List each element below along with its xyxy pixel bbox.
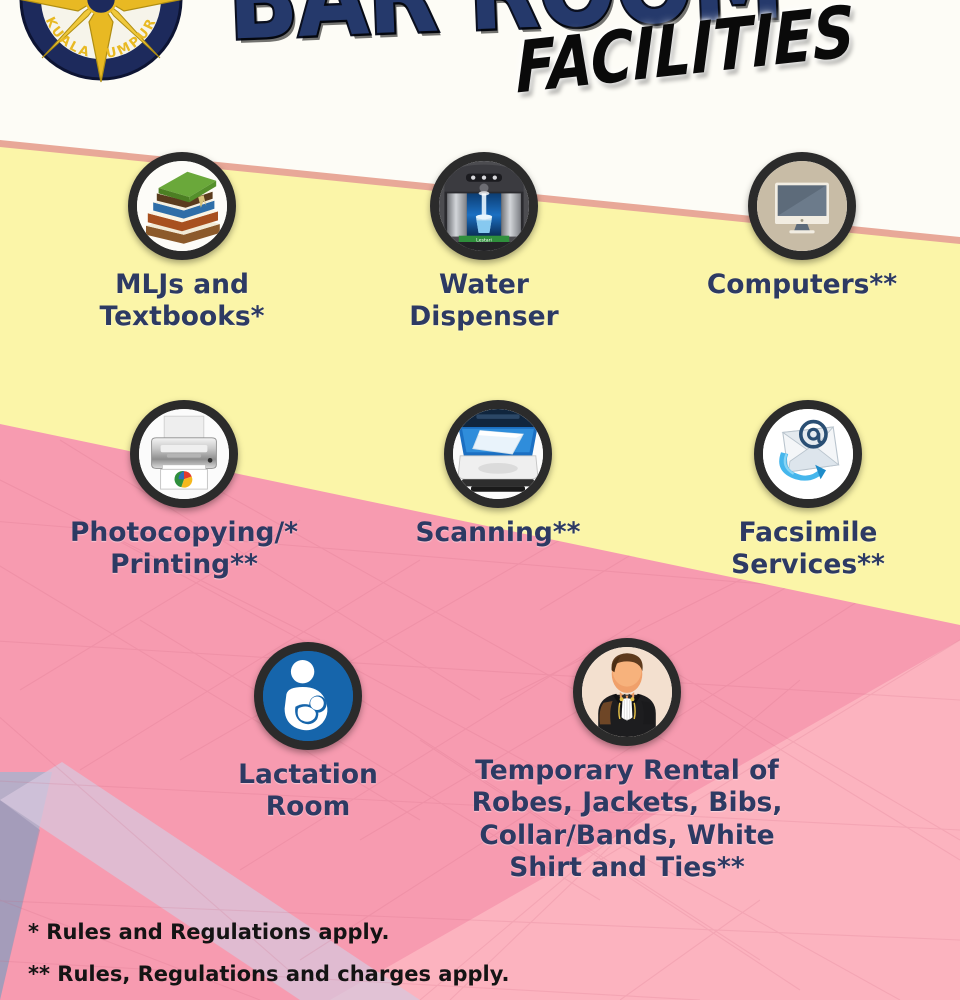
email-envelope-icon [763,409,853,499]
scanner-icon [453,409,543,499]
facility-photocopying-printing: Photocopying/* Printing** [39,400,329,582]
facility-label: MLJs and Textbooks* [62,269,302,334]
printer-icon [139,409,229,499]
facility-icon-ring: Lestari [430,152,538,260]
facility-water-dispenser: Lestari Water Dispenser [364,152,604,334]
poster-canvas: JUSTICE THROUGH LAW KUALA LUMPUR BAR ROO… [0,0,960,1000]
facility-label: Temporary Rental of Robes, Jackets, Bibs… [462,755,792,884]
footnote-double-asterisk: ** Rules, Regulations and charges apply. [28,962,509,986]
facility-icon-ring [754,400,862,508]
books-icon [137,161,227,251]
facility-label: Facsimile Services** [688,517,928,582]
bar-council-logo: JUSTICE THROUGH LAW KUALA LUMPUR [16,0,186,84]
facility-scanning: Scanning** [373,400,623,549]
lawyer-robes-icon [582,647,672,737]
facility-icon-ring [130,400,238,508]
footnotes-block: * Rules and Regulations apply. ** Rules,… [28,920,509,986]
water-dispenser-icon: Lestari [439,161,529,251]
facility-label: Computers** [672,269,932,301]
facility-icon-ring [128,152,236,260]
footnote-single-asterisk: * Rules and Regulations apply. [28,920,509,944]
facility-icon-ring [748,152,856,260]
poster-header: JUSTICE THROUGH LAW KUALA LUMPUR BAR ROO… [0,0,960,140]
facility-lactation-room: Lactation Room [193,642,423,824]
facility-icon-ring [444,400,552,508]
desktop-computer-icon [757,161,847,251]
facility-icon-ring [573,638,681,746]
facility-robe-rental: Temporary Rental of Robes, Jackets, Bibs… [462,638,792,884]
facility-label: Water Dispenser [364,269,604,334]
facility-mljs-textbooks: MLJs and Textbooks* [62,152,302,334]
facility-label: Lactation Room [193,759,423,824]
breastfeeding-icon [263,651,353,741]
facility-computers: Computers** [672,152,932,301]
facility-icon-ring [254,642,362,750]
facility-label: Scanning** [373,517,623,549]
facility-label: Photocopying/* Printing** [39,517,329,582]
facility-facsimile-services: Facsimile Services** [688,400,928,582]
